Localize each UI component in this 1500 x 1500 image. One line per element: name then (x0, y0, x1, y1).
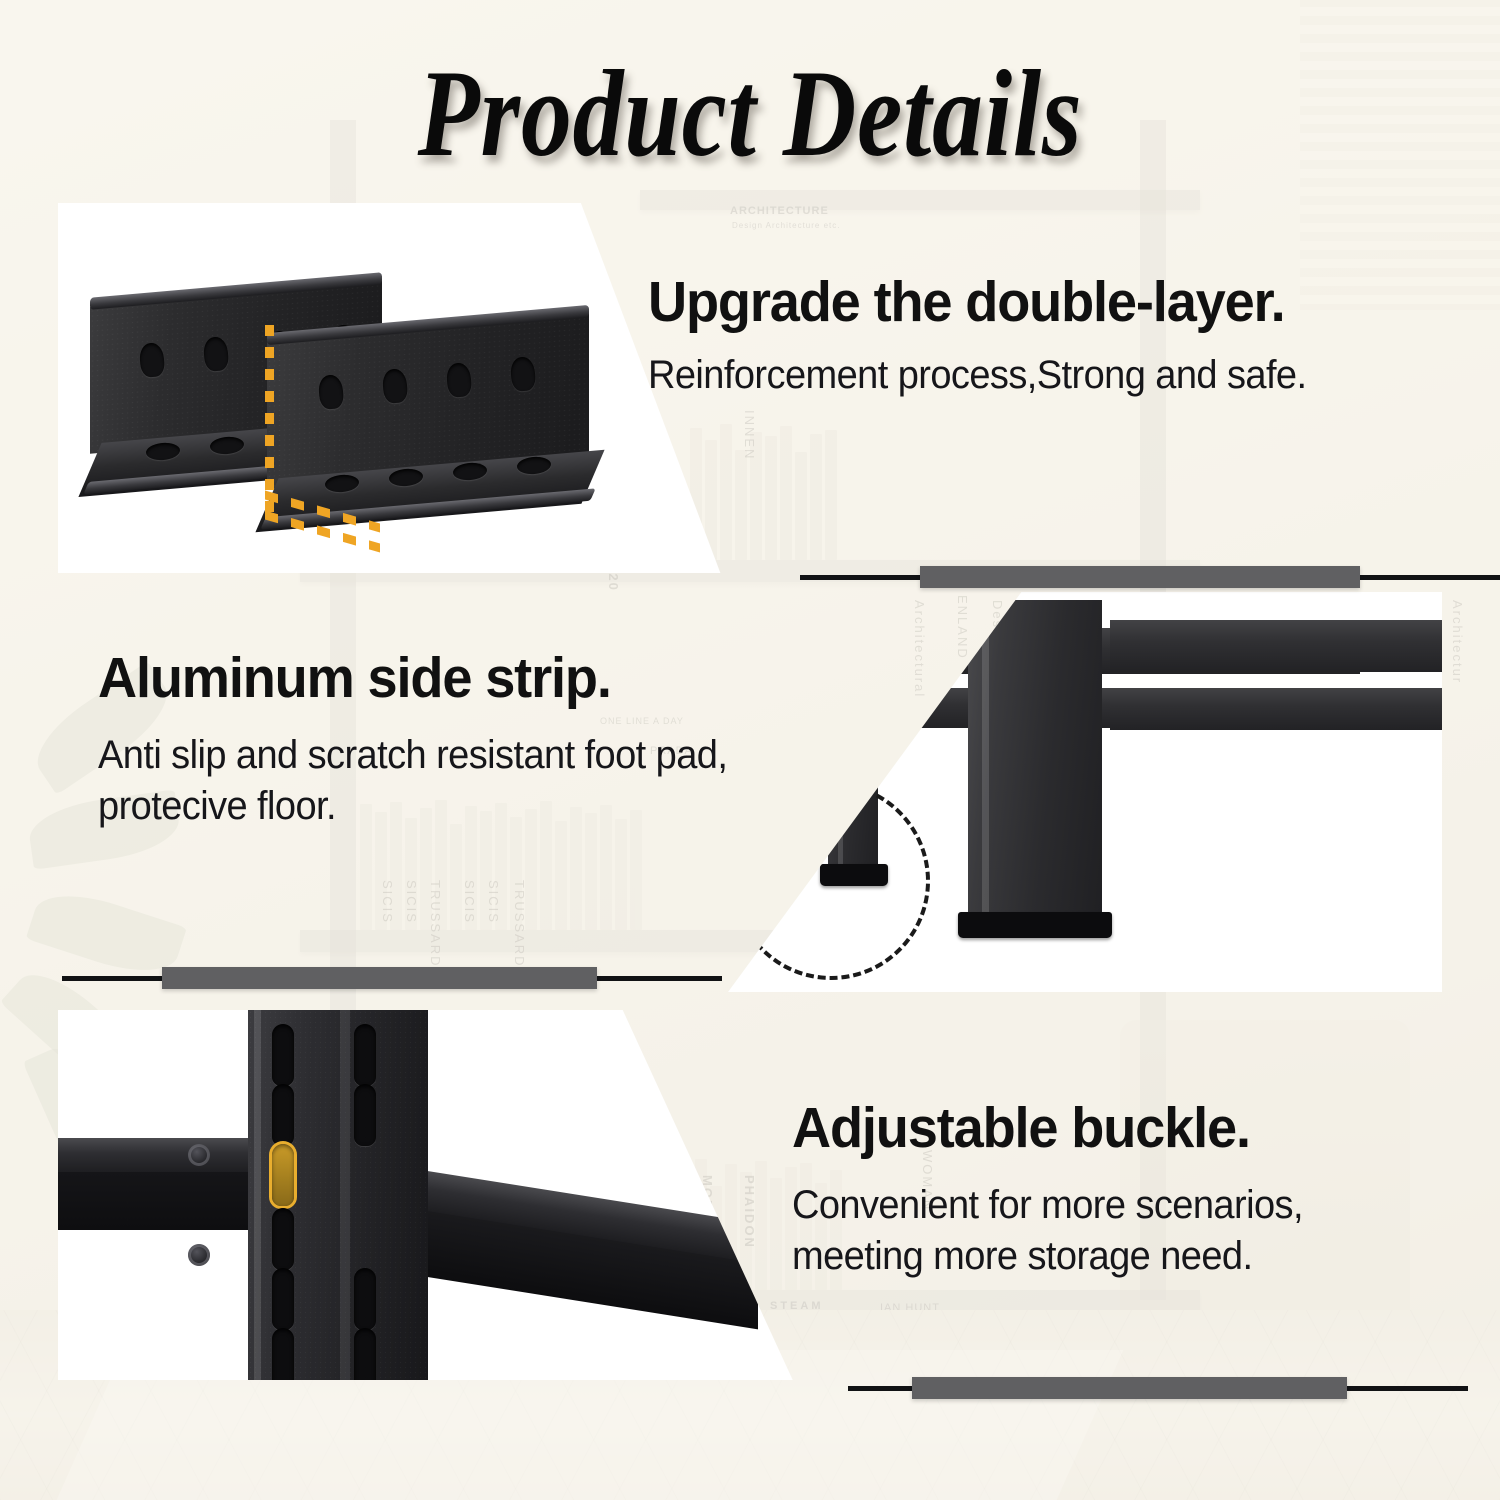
section-heading: Upgrade the double-layer. (648, 272, 1306, 332)
page-title: Product Details (135, 52, 1365, 176)
section-text-upgrade-double-layer: Upgrade the double-layer. Reinforcement … (648, 272, 1341, 401)
cross-beam (1110, 688, 1442, 730)
keyhole-slot (272, 1084, 294, 1146)
keyhole-slot (354, 1084, 376, 1146)
section-body: Convenient for more scenarios, meeting m… (792, 1180, 1400, 1281)
section-text-aluminum-side-strip: Aluminum side strip. Anti slip and scrat… (98, 648, 918, 831)
front-angle-beam (263, 325, 593, 550)
section-heading: Adjustable buckle. (792, 1098, 1400, 1158)
keyhole-slot (272, 1208, 294, 1270)
divider-bar (162, 967, 597, 989)
cross-beam (1110, 620, 1442, 672)
left-beam (58, 1138, 248, 1176)
keyhole-slot (354, 1268, 376, 1330)
keyhole-slot (272, 1024, 294, 1086)
section-body: Reinforcement process,Strong and safe. (648, 350, 1306, 400)
foot-pad (958, 912, 1112, 938)
keyhole-slot (272, 1268, 294, 1330)
keyhole-slot (354, 1024, 376, 1086)
double-layer-highlight (265, 325, 274, 513)
left-beam (58, 1172, 248, 1230)
keyhole-slot-highlighted (272, 1144, 294, 1206)
beam-rivet (188, 1244, 210, 1266)
front-leg (968, 600, 1102, 918)
divider-bar (912, 1377, 1347, 1399)
divider-bar (920, 566, 1360, 588)
section-text-adjustable-buckle: Adjustable buckle. Convenient for more s… (792, 1098, 1432, 1281)
section-body: Anti slip and scratch resistant foot pad… (98, 730, 877, 831)
keyhole-slot (272, 1328, 294, 1380)
keyhole-slot (354, 1328, 376, 1380)
beam-rivet (188, 1144, 210, 1166)
section-heading: Aluminum side strip. (98, 648, 877, 708)
